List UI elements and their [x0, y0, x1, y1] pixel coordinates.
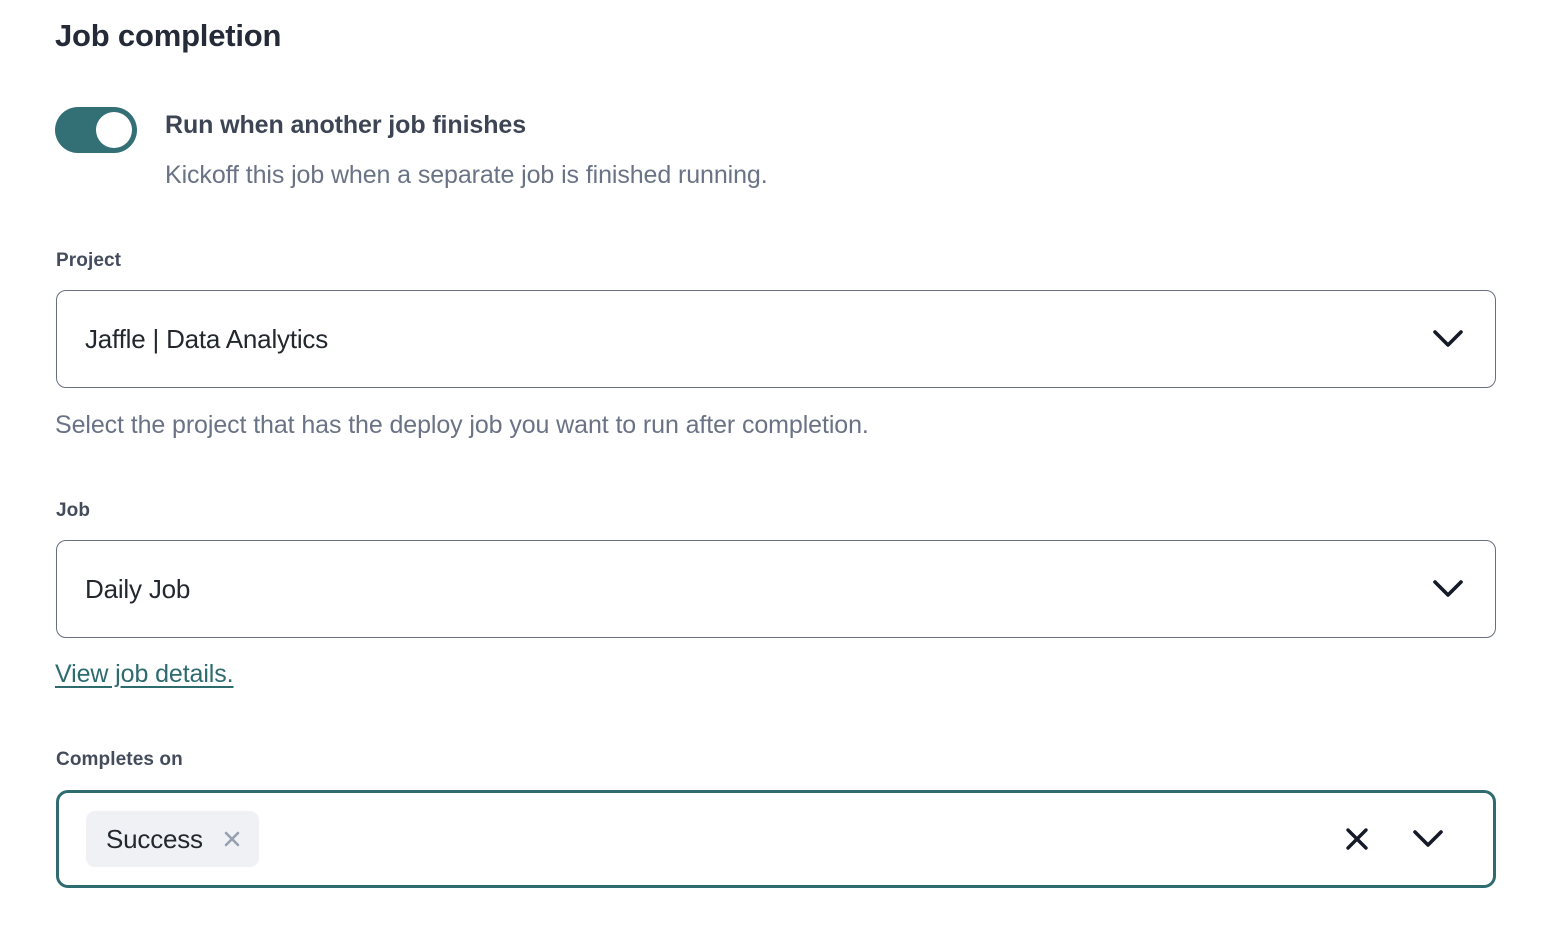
close-icon[interactable] — [1341, 823, 1373, 855]
chevron-down-icon[interactable] — [1431, 322, 1465, 356]
chevron-down-icon[interactable] — [1411, 822, 1445, 856]
job-completion-panel: Job completion Run when another job fini… — [0, 0, 1564, 936]
chevron-down-icon[interactable] — [1431, 572, 1465, 606]
project-select-value: Jaffle | Data Analytics — [85, 322, 1431, 356]
project-helper-text: Select the project that has the deploy j… — [55, 408, 869, 442]
toggle-label: Run when another job finishes — [165, 108, 768, 142]
completes-on-field-label: Completes on — [56, 747, 183, 773]
completes-on-multiselect[interactable]: Success — [56, 790, 1496, 888]
job-select[interactable]: Daily Job — [56, 540, 1496, 638]
toggle-knob — [96, 112, 132, 148]
view-job-details-link[interactable]: View job details. — [55, 657, 234, 691]
run-when-another-job-finishes-row: Run when another job finishes Kickoff th… — [55, 106, 768, 192]
job-select-value: Daily Job — [85, 572, 1431, 606]
toggle-text-group: Run when another job finishes Kickoff th… — [165, 106, 768, 192]
toggle-description: Kickoff this job when a separate job is … — [165, 158, 768, 192]
chip-label: Success — [106, 824, 203, 854]
close-icon[interactable] — [221, 828, 243, 850]
selected-chip[interactable]: Success — [86, 811, 259, 867]
run-when-another-job-finishes-toggle[interactable] — [55, 107, 137, 153]
project-select[interactable]: Jaffle | Data Analytics — [56, 290, 1496, 388]
project-field-label: Project — [56, 248, 121, 274]
page-title: Job completion — [55, 16, 281, 56]
job-field-label: Job — [56, 498, 90, 524]
